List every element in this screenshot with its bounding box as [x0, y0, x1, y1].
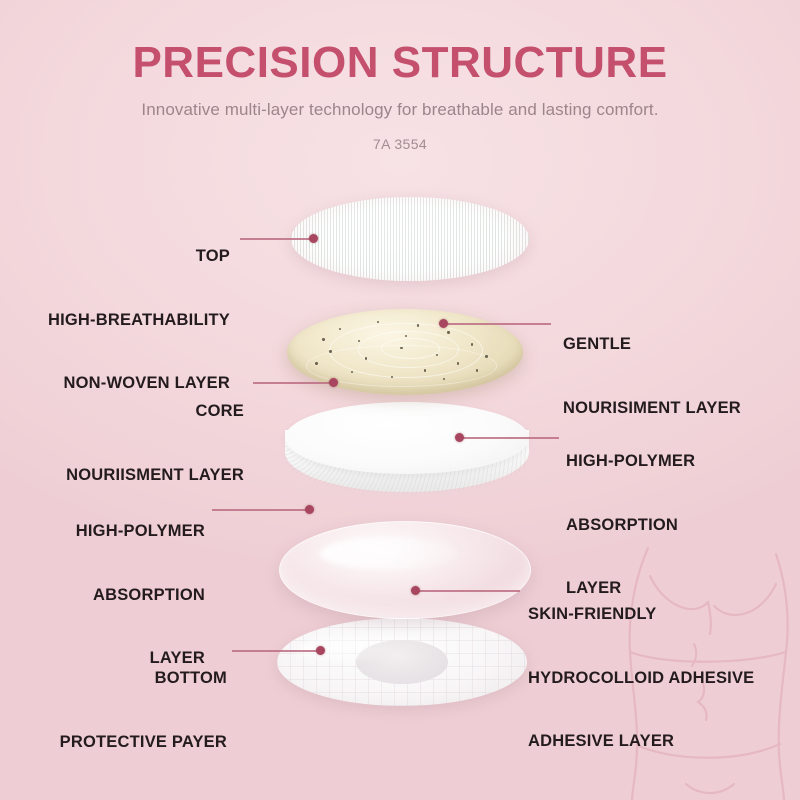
high-polymer-foam-layer [285, 402, 529, 508]
leader-dot-bottom-protective [316, 646, 325, 655]
label-line: SKIN-FRIENDLY [528, 604, 754, 625]
hydrocolloid-gel-layer [279, 521, 531, 619]
leader-dot-gentle-nourisiment [439, 319, 448, 328]
label-line: HIGH-POLYMER [76, 521, 205, 542]
leader-dot-top-non-woven [309, 234, 318, 243]
label-line: HIGH-POLYMER [566, 451, 695, 472]
label-skin-friendly-hydrocolloid: SKIN-FRIENDLY HYDROCOLLOID ADHESIVE ADHE… [528, 562, 754, 794]
label-bottom-protective: BOTTOM PROTECTIVE PAYER [60, 626, 227, 795]
label-line: ABSORPTION [566, 515, 695, 536]
header: PRECISION STRUCTURE Innovative multi-lay… [0, 0, 800, 152]
label-line: ABSORPTION [76, 585, 205, 606]
leader-line-skin-friendly [415, 590, 520, 592]
label-line: TOP [48, 246, 230, 267]
label-line: HYDROCOLLOID ADHESIVE [528, 668, 754, 689]
leader-dot-high-polymer-left [305, 505, 314, 514]
label-line: HIGH-BREATHABILITY [48, 310, 230, 331]
top-non-woven-layer [291, 197, 529, 281]
label-line: PROTECTIVE PAYER [60, 732, 227, 753]
leader-line-bottom-protective [232, 650, 320, 652]
product-code: 7A 3554 [0, 136, 800, 152]
leader-line-gentle-nourisiment [443, 323, 551, 325]
leader-dot-skin-friendly [411, 586, 420, 595]
bottom-protective-layer [277, 618, 527, 706]
bottom-layer-sheen [297, 637, 397, 660]
leader-line-core-nouriisment [253, 382, 333, 384]
leader-dot-high-polymer-right [455, 433, 464, 442]
label-line: CORE [66, 401, 244, 422]
leader-line-top-non-woven [240, 238, 313, 240]
leader-dot-core-nouriisment [329, 378, 338, 387]
foam-side-wall [285, 430, 529, 492]
label-line: GENTLE [563, 334, 741, 355]
label-line: BOTTOM [60, 668, 227, 689]
subtitle: Innovative multi-layer technology for br… [0, 100, 800, 120]
infographic-canvas: PRECISION STRUCTURE Innovative multi-lay… [0, 0, 800, 800]
release-liner-center [356, 640, 448, 684]
foam-texture [285, 442, 529, 494]
hydrocolloid-gloss-highlight [320, 537, 458, 570]
label-line: ADHESIVE LAYER [528, 731, 754, 752]
page-title: PRECISION STRUCTURE [0, 40, 800, 86]
leader-line-high-polymer-right [459, 437, 559, 439]
